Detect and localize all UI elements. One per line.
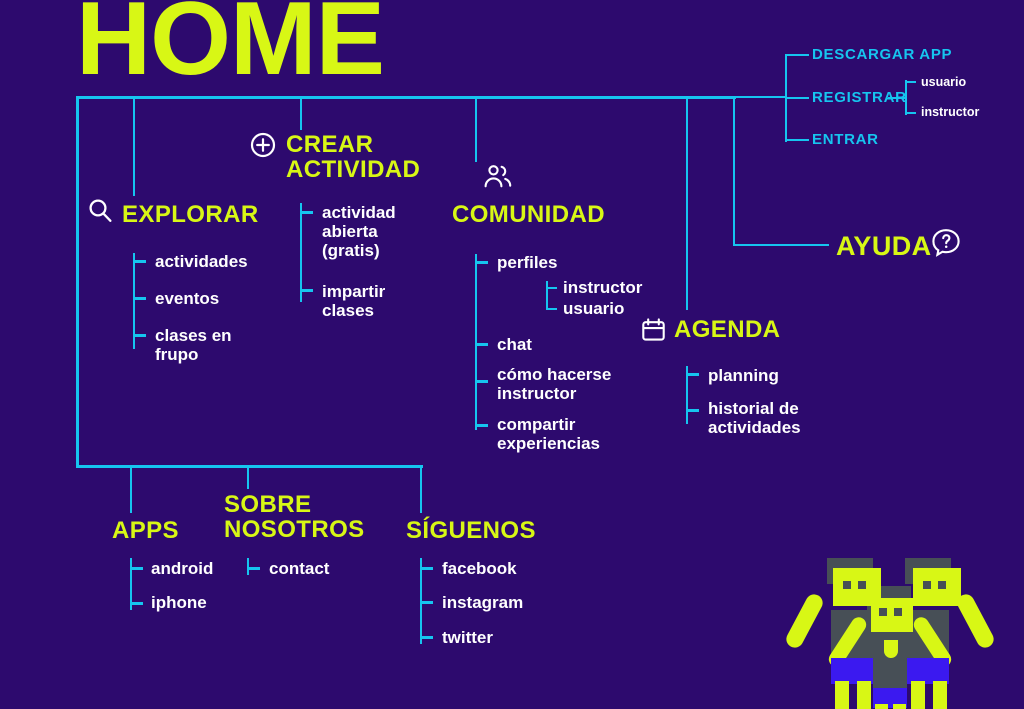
main-spine-horizontal	[76, 96, 736, 99]
page-title: HOME	[76, 0, 384, 88]
leaf-agenda-planning[interactable]: planning	[708, 366, 779, 385]
leaf-crear-impartir-clases[interactable]: impartir clases	[322, 282, 385, 320]
leaf-explorar-actividades[interactable]: actividades	[155, 252, 248, 271]
node-descargar-app[interactable]: DESCARGAR APP	[812, 47, 952, 63]
sitemap-canvas: HOME DESCARGAR APP REGISTRAR ENTRAR usua…	[0, 0, 1024, 709]
leaf-siguenos-twitter[interactable]: twitter	[442, 628, 493, 647]
ayuda-connector	[733, 244, 829, 246]
spine-drop-ayuda	[733, 96, 735, 246]
spine-drop-crear-actividad	[300, 96, 302, 130]
account-connector-descargar	[785, 54, 809, 56]
node-agenda[interactable]: AGENDA	[674, 317, 780, 342]
footer-drop-sobre-nosotros	[247, 465, 249, 489]
crear-dash-1	[300, 211, 313, 214]
spine-drop-left	[76, 96, 79, 468]
siguenos-dash-instagram	[420, 601, 433, 604]
mascot-illustration	[795, 548, 1024, 709]
node-sobre-nosotros[interactable]: SOBRE NOSOTROS	[224, 492, 365, 543]
footer-spine-horizontal	[76, 465, 423, 468]
node-apps[interactable]: APPS	[112, 518, 179, 543]
registrar-sub-dash-usuario	[905, 81, 916, 83]
leaf-agenda-historial[interactable]: historial de actividades	[708, 399, 801, 437]
explorar-dash-1	[133, 260, 146, 263]
spine-drop-explorar	[133, 96, 135, 196]
footer-drop-siguenos	[420, 465, 422, 513]
node-explorar[interactable]: EXPLORAR	[122, 202, 259, 227]
plus-circle-icon	[249, 131, 277, 159]
search-icon	[86, 197, 114, 225]
comunidad-children-spine	[475, 254, 477, 430]
account-connector-entrar	[785, 139, 809, 141]
leaf-comunidad-perfiles[interactable]: perfiles	[497, 253, 557, 272]
node-crear-actividad[interactable]: CREAR ACTIVIDAD	[286, 132, 420, 183]
siguenos-dash-facebook	[420, 567, 433, 570]
leaf-comunidad-como-hacerse-instructor[interactable]: cómo hacerse instructor	[497, 365, 611, 403]
leaf-perfiles-instructor[interactable]: instructor	[563, 278, 642, 297]
footer-drop-apps	[130, 465, 132, 513]
apps-dash-iphone	[130, 602, 143, 605]
comunidad-dash-compartir	[475, 424, 488, 427]
perfiles-sub-spine	[546, 281, 548, 310]
leaf-comunidad-chat[interactable]: chat	[497, 335, 532, 354]
leaf-apps-iphone[interactable]: iphone	[151, 593, 207, 612]
account-connector-registrar	[785, 97, 809, 99]
registrar-sub-spine	[905, 80, 907, 115]
node-entrar[interactable]: ENTRAR	[812, 132, 879, 148]
leaf-explorar-eventos[interactable]: eventos	[155, 289, 219, 308]
spine-drop-comunidad	[475, 96, 477, 162]
people-icon	[483, 164, 513, 190]
spine-drop-agenda	[686, 96, 688, 310]
perfiles-dash-instructor	[546, 287, 557, 289]
explorar-dash-2	[133, 297, 146, 300]
leaf-registrar-usuario[interactable]: usuario	[921, 75, 966, 89]
registrar-sub-stem	[888, 97, 906, 99]
leaf-registrar-instructor[interactable]: instructor	[921, 105, 979, 119]
comunidad-dash-chat	[475, 343, 488, 346]
crear-children-spine	[300, 203, 302, 302]
leaf-crear-actividad-abierta[interactable]: actividad abierta (gratis)	[322, 203, 396, 260]
perfiles-dash-usuario	[546, 308, 557, 310]
leaf-comunidad-compartir-experiencias[interactable]: compartir experiencias	[497, 415, 600, 453]
sobre-nosotros-dash-contact	[247, 567, 260, 570]
leaf-siguenos-instagram[interactable]: instagram	[442, 593, 523, 612]
explorar-dash-3	[133, 334, 146, 337]
registrar-sub-dash-instructor	[905, 112, 916, 114]
leaf-sobre-nosotros-contact[interactable]: contact	[269, 559, 329, 578]
apps-dash-android	[130, 567, 143, 570]
leaf-perfiles-usuario[interactable]: usuario	[563, 299, 624, 318]
node-ayuda[interactable]: AYUDA	[836, 232, 932, 261]
node-siguenos[interactable]: SÍGUENOS	[406, 518, 536, 543]
leaf-apps-android[interactable]: android	[151, 559, 213, 578]
calendar-icon	[641, 317, 666, 342]
agenda-dash-historial	[686, 409, 699, 412]
agenda-dash-planning	[686, 373, 699, 376]
question-bubble-icon	[930, 227, 962, 259]
account-branch-stem	[733, 96, 787, 98]
comunidad-dash-como-hacerse	[475, 380, 488, 383]
siguenos-dash-twitter	[420, 636, 433, 639]
leaf-explorar-clases-en-grupo[interactable]: clases en frupo	[155, 326, 232, 364]
crear-dash-2	[300, 289, 313, 292]
comunidad-dash-perfiles	[475, 261, 488, 264]
leaf-siguenos-facebook[interactable]: facebook	[442, 559, 517, 578]
node-comunidad[interactable]: COMUNIDAD	[452, 202, 605, 227]
